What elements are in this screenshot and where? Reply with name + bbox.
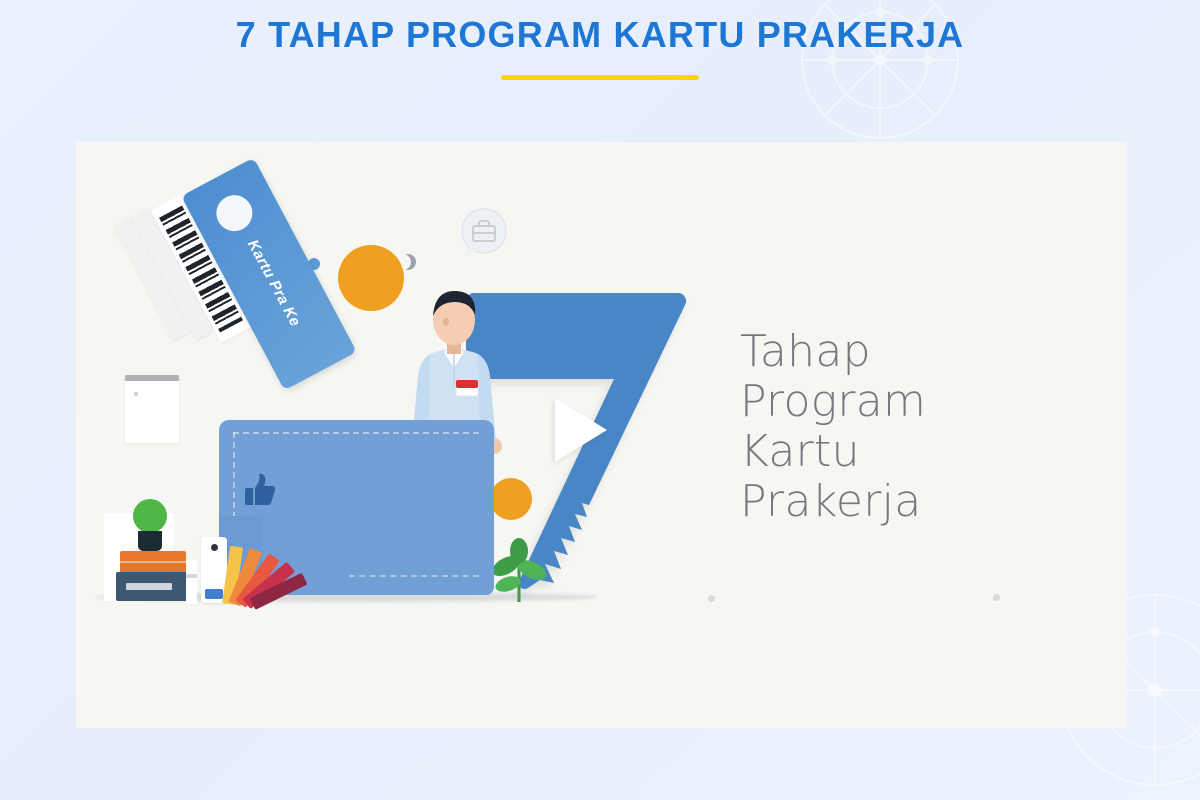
phone-camera-icon	[211, 544, 218, 551]
whiteboard-dot	[134, 392, 138, 396]
book-orange-line	[120, 561, 186, 563]
speech-bubble-briefcase-icon	[457, 206, 511, 260]
book-blue	[116, 572, 188, 601]
title-underline-accent	[501, 75, 699, 80]
plant-pot-icon	[138, 531, 162, 551]
plant-leaf-icon	[133, 499, 167, 533]
phone-home-bar	[205, 589, 223, 599]
whiteboard-top-bar	[125, 375, 179, 381]
decorative-dot	[708, 595, 715, 602]
caption-line-2: Program	[740, 377, 1070, 427]
color-swatch-fan	[222, 542, 286, 604]
page-title: 7 TAHAP PROGRAM KARTU PRAKERJA	[0, 0, 1200, 56]
caption-line-3: Kartu	[740, 427, 1070, 477]
illustration-stage: Kartu Pra Ke	[76, 142, 1127, 728]
thumbs-up-icon	[241, 472, 275, 506]
decorative-dot	[993, 594, 1000, 601]
pencil-stack	[186, 560, 197, 604]
book-orange	[120, 551, 186, 573]
wallet-stitch-bottom	[349, 575, 479, 577]
illustration-panel: Kartu Pra Ke	[76, 142, 1127, 728]
play-button-icon[interactable]	[555, 398, 607, 462]
pencil-band	[186, 574, 197, 578]
caption-line-4: Prakerja	[740, 477, 1070, 527]
card-label: Kartu Pra Ke	[238, 225, 310, 341]
caption-text: Tahap Program Kartu Prakerja	[740, 327, 1070, 528]
wallet-stitch-horizontal	[233, 432, 479, 434]
crescent-icon	[400, 254, 416, 270]
wallet-stitch-vertical	[233, 432, 235, 518]
book-blue-strip	[126, 583, 172, 590]
whiteboard-icon	[125, 375, 179, 443]
page-header: 7 TAHAP PROGRAM KARTU PRAKERJA	[0, 0, 1200, 142]
caption-line-1: Tahap	[740, 327, 1070, 377]
